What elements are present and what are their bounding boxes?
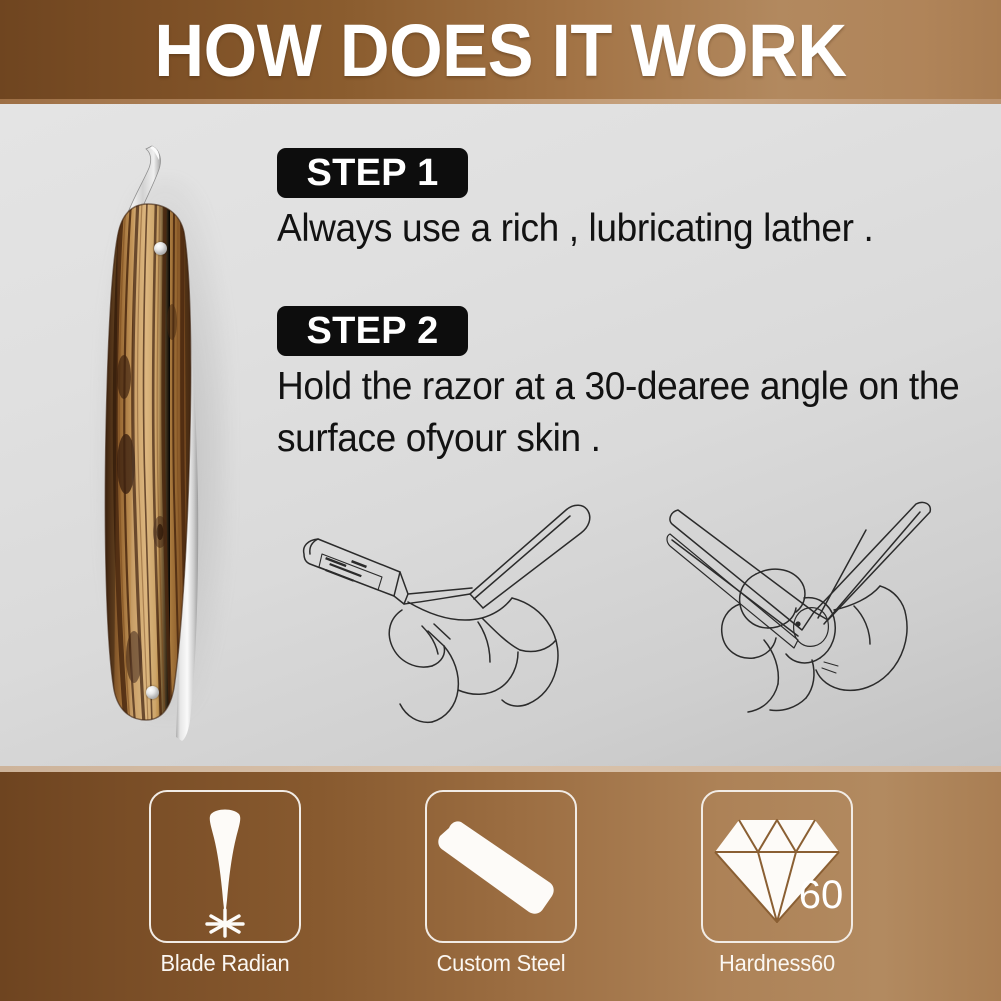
- feature-label-blade-radian: Blade Radian: [102, 948, 349, 978]
- diamond-gem-icon: 60: [701, 790, 853, 943]
- illustration-hand-holding-open-razor: [282, 498, 602, 738]
- step-2-text: Hold the razor at a 30-dearee angle on t…: [277, 361, 980, 465]
- step-1-badge: STEP 1: [277, 148, 468, 198]
- illustration-hand-gripping-razor-angle: [648, 490, 968, 730]
- feature-card-custom-steel: [425, 790, 577, 943]
- blade-tip-taper-icon: [149, 790, 301, 943]
- product-image-straight-razor: [78, 140, 268, 730]
- feature-card-hardness: 60: [701, 790, 853, 943]
- infographic-page: HOW DOES IT WORK: [0, 0, 1001, 1001]
- steel-bar-icon: [425, 790, 577, 943]
- page-title: HOW DOES IT WORK: [35, 8, 966, 94]
- razor-handle-wood: [104, 202, 196, 724]
- hardness-value: 60: [799, 873, 844, 917]
- step-1-text: Always use a rich , lubricating lather .: [277, 203, 999, 255]
- feature-card-blade-radian: [149, 790, 301, 943]
- step-2-badge: STEP 2: [277, 306, 468, 356]
- feature-label-custom-steel: Custom Steel: [378, 948, 625, 978]
- razor-rivet-bottom: [146, 686, 159, 699]
- feature-label-hardness: Hardness60: [654, 948, 901, 978]
- razor-rivet-top: [154, 242, 167, 255]
